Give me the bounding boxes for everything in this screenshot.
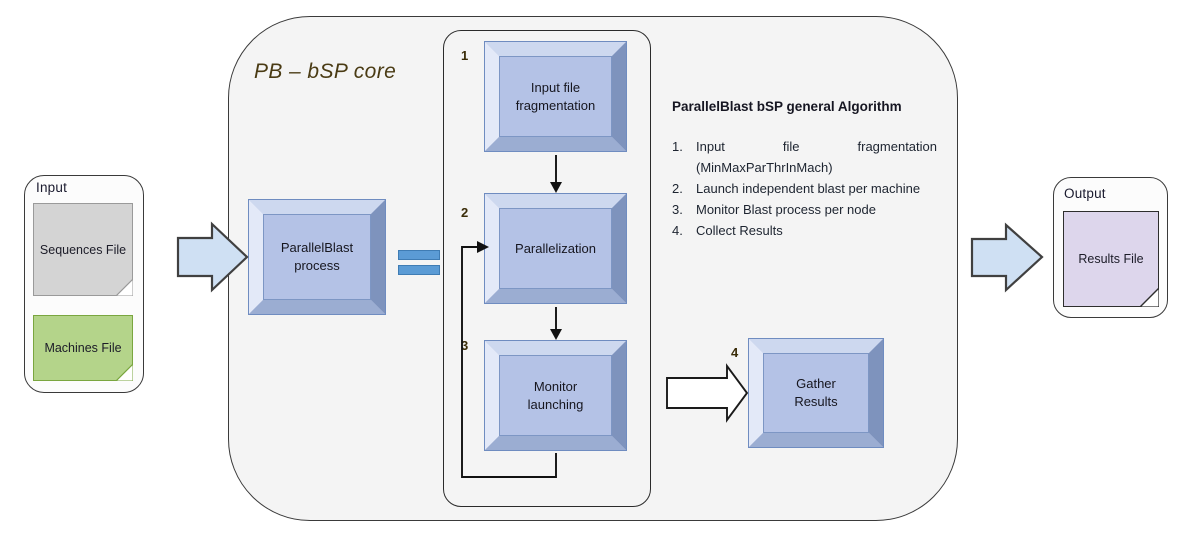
step-box-face: Input file fragmentation <box>499 56 612 137</box>
algorithm-item-number: 3. <box>672 199 696 220</box>
parallelblast-process-box: ParallelBlast process <box>248 199 386 315</box>
algorithm-item: 2. Launch independent blast per machine <box>672 178 937 199</box>
step-box-parallelization: Parallelization <box>484 193 627 304</box>
bevel-top-face <box>485 194 626 209</box>
page-fold-icon <box>1140 288 1159 307</box>
bevel-top-face <box>485 341 626 356</box>
algorithm-item-number: 2. <box>672 178 696 199</box>
step-box-input-file-fragmentation: Input file fragmentation <box>484 41 627 152</box>
bevel-bottom-face <box>249 299 385 314</box>
algorithm-item-number: 4. <box>672 220 696 241</box>
algorithm-item-text: Monitor Blast process per node <box>696 199 937 220</box>
algorithm-item: 1. Input file fragmentation (MinMaxParTh… <box>672 136 937 178</box>
output-block-arrow <box>972 225 1042 290</box>
connector-bar-upper <box>398 250 440 260</box>
bevel-right-face <box>868 339 883 447</box>
page-fold-icon <box>116 364 133 381</box>
bevel-right-face <box>611 42 626 151</box>
step-box-face: Monitor launching <box>499 355 612 436</box>
bevel-right-face <box>370 200 385 314</box>
step-box-gather-results: Gather Results <box>748 338 884 448</box>
bevel-right-face <box>611 341 626 450</box>
step2-line-1: Parallelization <box>515 240 596 258</box>
step-number-3: 3 <box>461 338 468 353</box>
bevel-top-face <box>485 42 626 57</box>
algorithm-item-text: Collect Results <box>696 220 937 241</box>
results-file-label: Results File <box>1078 252 1143 266</box>
step3-line-1: Monitor <box>534 379 577 394</box>
page-fold-icon <box>116 279 133 296</box>
output-panel-label: Output <box>1064 186 1106 201</box>
step3-line-2: launching <box>528 397 584 412</box>
bevel-left-face <box>485 194 500 303</box>
process-line-1: ParallelBlast <box>281 240 353 255</box>
parallelblast-process-face: ParallelBlast process <box>263 214 371 300</box>
connector-bar-lower <box>398 265 440 275</box>
step4-line-2: Results <box>794 394 837 409</box>
bevel-left-face <box>749 339 764 447</box>
results-file: Results File <box>1063 211 1159 307</box>
algorithm-list: 1. Input file fragmentation (MinMaxParTh… <box>672 136 937 241</box>
bevel-top-face <box>249 200 385 215</box>
bevel-left-face <box>249 200 264 314</box>
machines-file-label: Machines File <box>44 341 121 355</box>
sequences-file-label: Sequences File <box>40 243 126 257</box>
algorithm-item-text: Input file fragmentation (MinMaxParThrIn… <box>696 136 937 178</box>
process-line-2: process <box>294 258 340 273</box>
algorithm-item-number: 1. <box>672 136 696 178</box>
step-box-face: Gather Results <box>763 353 869 433</box>
input-panel-label: Input <box>36 180 67 195</box>
bevel-right-face <box>611 194 626 303</box>
bevel-bottom-face <box>749 432 883 447</box>
step-box-monitor-launching: Monitor launching <box>484 340 627 451</box>
bevel-top-face <box>749 339 883 354</box>
algorithm-item: 4. Collect Results <box>672 220 937 241</box>
sequences-file: Sequences File <box>33 203 133 296</box>
step1-line-2: fragmentation <box>516 98 596 113</box>
step-number-1: 1 <box>461 48 468 63</box>
pb-bsp-core-title: PB – bSP core <box>254 60 396 84</box>
algorithm-item-text: Launch independent blast per machine <box>696 178 937 199</box>
bevel-bottom-face <box>485 136 626 151</box>
step4-line-1: Gather <box>796 376 836 391</box>
diagram-canvas: Input Sequences File Machines File PB – … <box>0 0 1181 535</box>
bevel-bottom-face <box>485 288 626 303</box>
algorithm-title: ParallelBlast bSP general Algorithm <box>672 99 902 114</box>
bevel-bottom-face <box>485 435 626 450</box>
algorithm-item: 3. Monitor Blast process per node <box>672 199 937 220</box>
step-number-4: 4 <box>731 345 738 360</box>
step-number-2: 2 <box>461 205 468 220</box>
step-box-face: Parallelization <box>499 208 612 289</box>
bevel-left-face <box>485 42 500 151</box>
step1-line-1: Input file <box>531 80 580 95</box>
machines-file: Machines File <box>33 315 133 381</box>
bevel-left-face <box>485 341 500 450</box>
